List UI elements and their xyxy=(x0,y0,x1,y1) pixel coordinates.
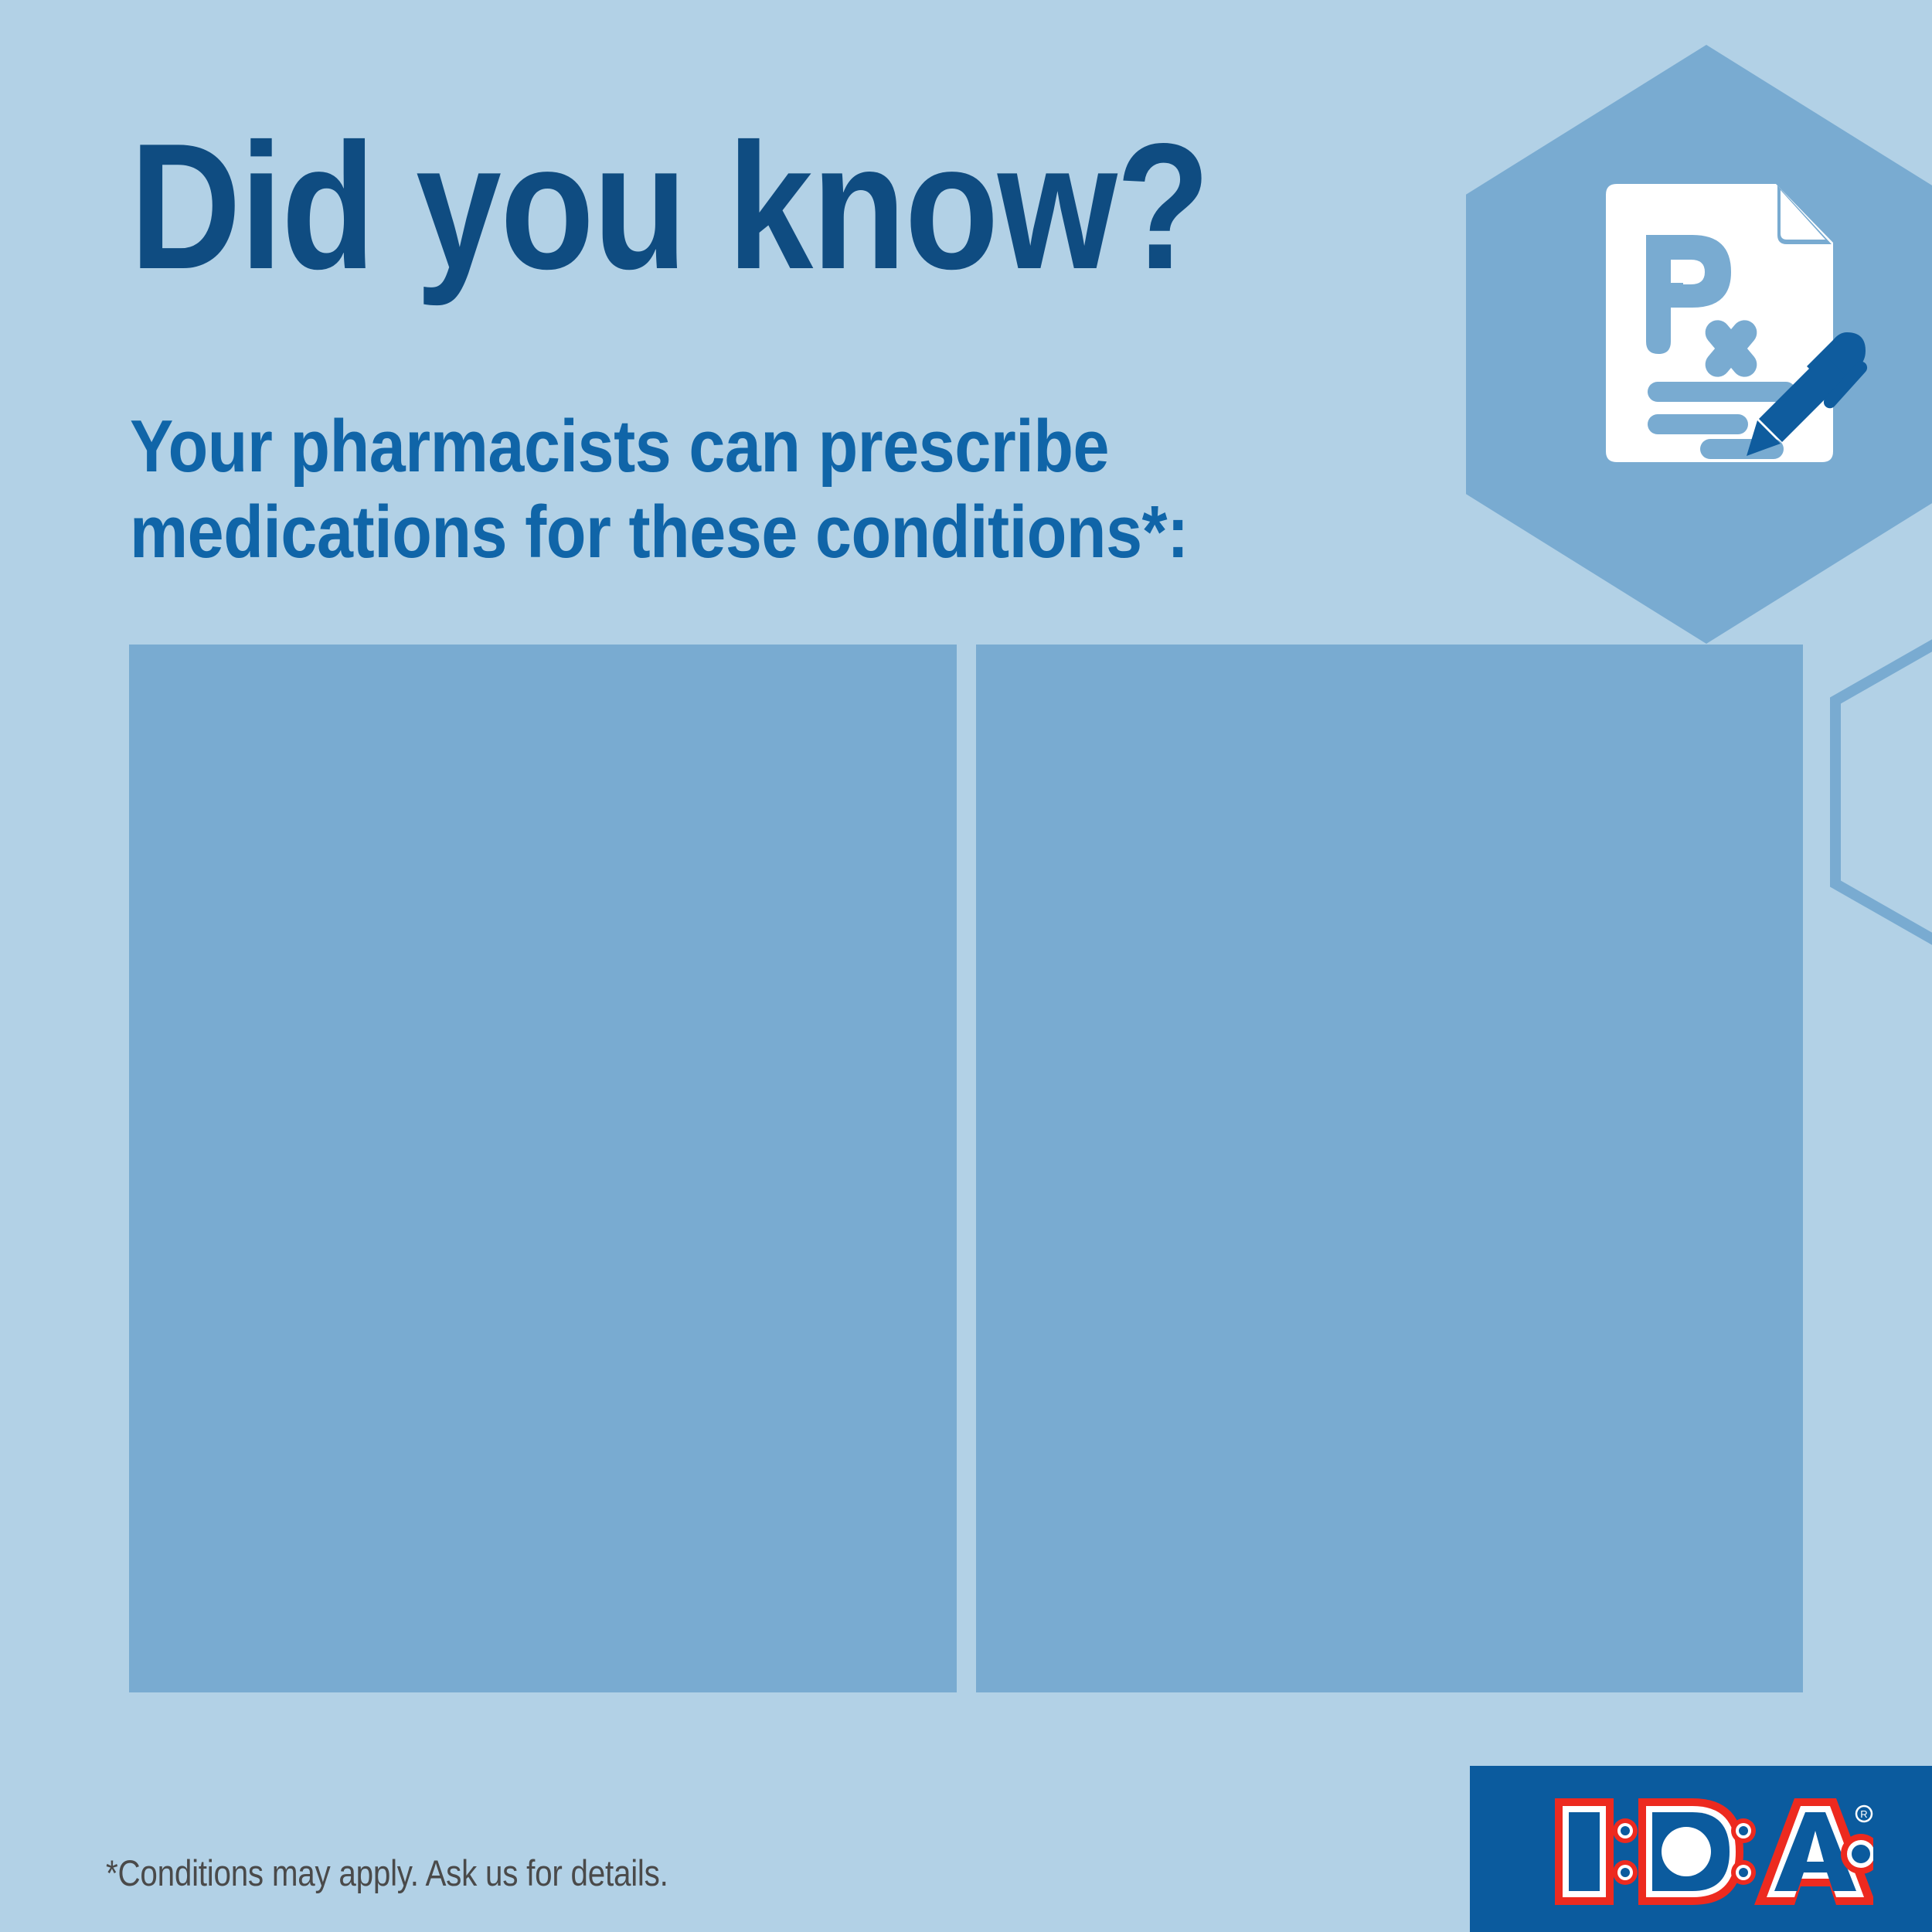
footnote-disclaimer: *Conditions may apply. Ask us for detail… xyxy=(106,1852,668,1894)
subtitle-line-1: Your pharmacists can prescribe xyxy=(130,403,1189,489)
subtitle-line-2: medications for these conditions*: xyxy=(130,489,1189,575)
conditions-panel-right xyxy=(976,645,1803,1692)
poster-canvas: Did you know? Your pharmacists can presc… xyxy=(0,0,1932,1932)
rx-prescription-pen-icon xyxy=(1592,179,1878,481)
conditions-panels xyxy=(129,645,1803,1692)
ida-logo-block: R xyxy=(1470,1766,1932,1932)
conditions-panel-left xyxy=(129,645,957,1692)
page-title: Did you know? xyxy=(130,117,1209,297)
svg-text:R: R xyxy=(1860,1808,1867,1820)
hexagon-outline-decoration xyxy=(1830,603,1932,981)
subtitle: Your pharmacists can prescribe medicatio… xyxy=(130,403,1189,576)
panel-divider xyxy=(957,645,976,1692)
ida-pharmacy-logo: R xyxy=(1549,1794,1873,1910)
